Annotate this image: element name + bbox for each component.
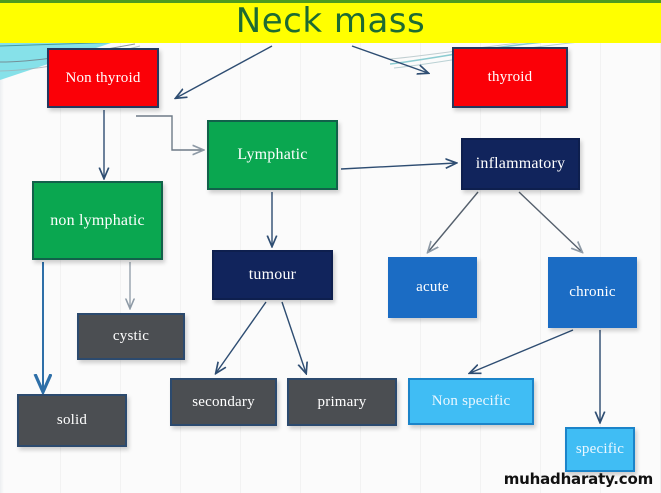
node-label: primary (318, 394, 367, 411)
node-label: Lymphatic (237, 146, 307, 164)
edge-title-to-non-thyroid (176, 46, 272, 98)
edge-tumour-to-primary (282, 302, 306, 373)
node-label: solid (57, 412, 87, 429)
page-title: Neck mass (0, 0, 661, 43)
node-solid[interactable]: solid (17, 394, 127, 447)
node-label: thyroid (488, 69, 533, 86)
node-non-specific[interactable]: Non specific (408, 378, 534, 425)
node-non-thyroid[interactable]: Non thyroid (47, 48, 159, 108)
node-label: acute (416, 279, 449, 296)
node-label: secondary (192, 394, 255, 411)
background-left-edge (0, 0, 4, 493)
node-label: tumour (249, 266, 296, 284)
node-acute[interactable]: acute (388, 257, 477, 318)
edge-inflammatory-to-acute (428, 192, 478, 252)
slide-canvas: Neck mass (0, 0, 661, 493)
node-tumour[interactable]: tumour (212, 250, 333, 300)
node-primary[interactable]: primary (287, 378, 397, 426)
node-inflammatory[interactable]: inflammatory (461, 138, 580, 190)
node-label: Non specific (432, 393, 511, 410)
node-chronic[interactable]: chronic (548, 257, 637, 328)
edge-title-to-thyroid (352, 46, 428, 73)
edge-chronic-to-non-specific (470, 330, 573, 373)
node-label: specific (576, 441, 624, 458)
node-label: inflammatory (476, 155, 566, 173)
node-label: cystic (113, 328, 149, 345)
node-non-lymphatic[interactable]: non lymphatic (32, 181, 163, 260)
edge-lymphatic-to-inflammatory (341, 163, 456, 169)
node-cystic[interactable]: cystic (77, 313, 185, 360)
edge-tumour-to-secondary (216, 302, 266, 373)
node-secondary[interactable]: secondary (170, 378, 277, 426)
node-lymphatic[interactable]: Lymphatic (207, 120, 338, 190)
edge-inflammatory-to-chronic (519, 192, 582, 252)
node-label: Non thyroid (65, 70, 140, 87)
node-thyroid[interactable]: thyroid (452, 47, 568, 108)
edge-non-thyroid-to-lymphatic (136, 116, 203, 150)
node-label: chronic (569, 284, 615, 301)
node-label: non lymphatic (50, 212, 145, 230)
watermark: muhadharaty.com (504, 470, 653, 488)
node-specific[interactable]: specific (565, 427, 635, 472)
